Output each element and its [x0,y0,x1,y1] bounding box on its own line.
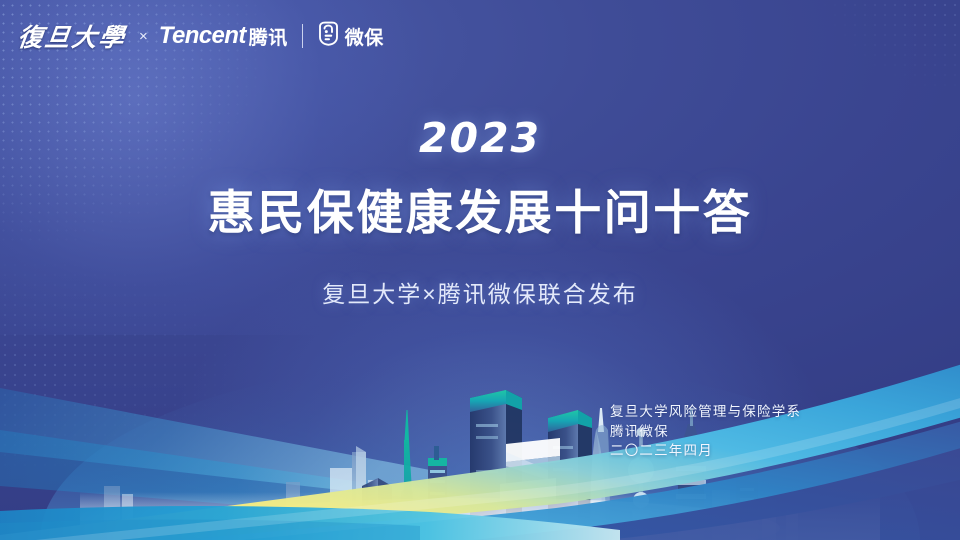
logo-bar: 復旦大學 × Tencent 腾讯 微保 [18,16,384,56]
logo-separator-x: × [139,28,148,45]
wesure-logo-cn: 微保 [345,23,384,50]
cover-slide: 復旦大學 × Tencent 腾讯 微保 2023 惠民保健康发展十问十答 复旦… [0,0,960,540]
fudan-university-logo: 復旦大學 [16,18,128,54]
wesure-shield-icon [317,21,340,51]
wesure-logo: 微保 [317,21,384,51]
tencent-logo-cn: 腾讯 [249,23,288,50]
page-subtitle: 复旦大学×腾讯微保联合发布 [0,275,960,309]
page-title: 惠民保健康发展十问十答 [0,185,960,241]
credits-line-date: 二〇二三年四月 [610,441,801,461]
credits-line-department: 复旦大学风险管理与保险学系 [610,402,801,422]
headline-block: 2023 惠民保健康发展十问十答 复旦大学×腾讯微保联合发布 [0,118,960,309]
credits-block: 复旦大学风险管理与保险学系 腾讯微保 二〇二三年四月 [610,402,801,461]
year-label: 2023 [0,118,960,159]
credits-line-organization: 腾讯微保 [610,422,801,442]
tencent-logo-en: Tencent [159,22,246,50]
logo-divider [302,24,303,48]
